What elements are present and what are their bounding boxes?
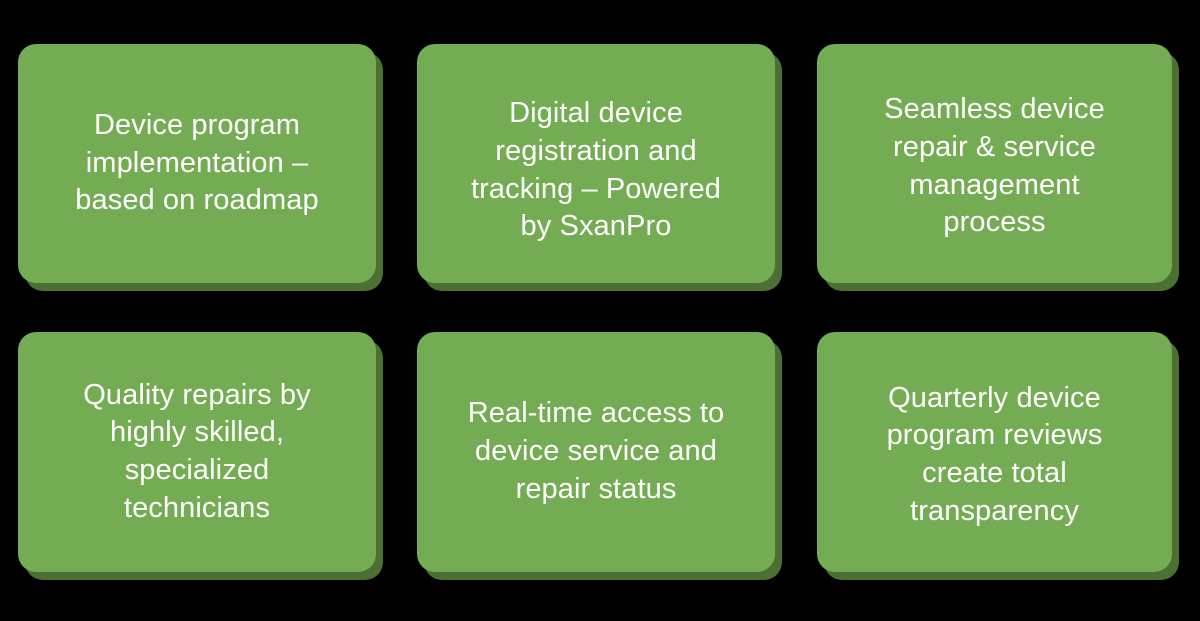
benefit-card-real-time-access-status[interactable]: Real-time access to device service and r… (417, 332, 775, 572)
benefit-card-label: Real-time access to device service and r… (433, 395, 759, 508)
benefit-card-quarterly-program-reviews[interactable]: Quarterly device program reviews create … (817, 332, 1172, 572)
benefit-card-label: Quarterly device program reviews create … (833, 380, 1156, 531)
benefit-card-label: Device program implementation – based on… (34, 107, 360, 220)
benefit-card-device-program-implementation[interactable]: Device program implementation – based on… (18, 44, 376, 283)
benefit-card-label: Quality repairs by highly skilled, speci… (34, 377, 360, 528)
benefit-card-quality-repairs-technicians[interactable]: Quality repairs by highly skilled, speci… (18, 332, 376, 572)
benefits-card-grid: Device program implementation – based on… (0, 0, 1200, 621)
benefit-card-label: Digital device registration and tracking… (433, 95, 759, 246)
benefit-card-seamless-repair-service[interactable]: Seamless device repair & service managem… (817, 44, 1172, 283)
benefit-card-digital-device-registration[interactable]: Digital device registration and tracking… (417, 44, 775, 283)
benefit-card-label: Seamless device repair & service managem… (833, 91, 1156, 242)
